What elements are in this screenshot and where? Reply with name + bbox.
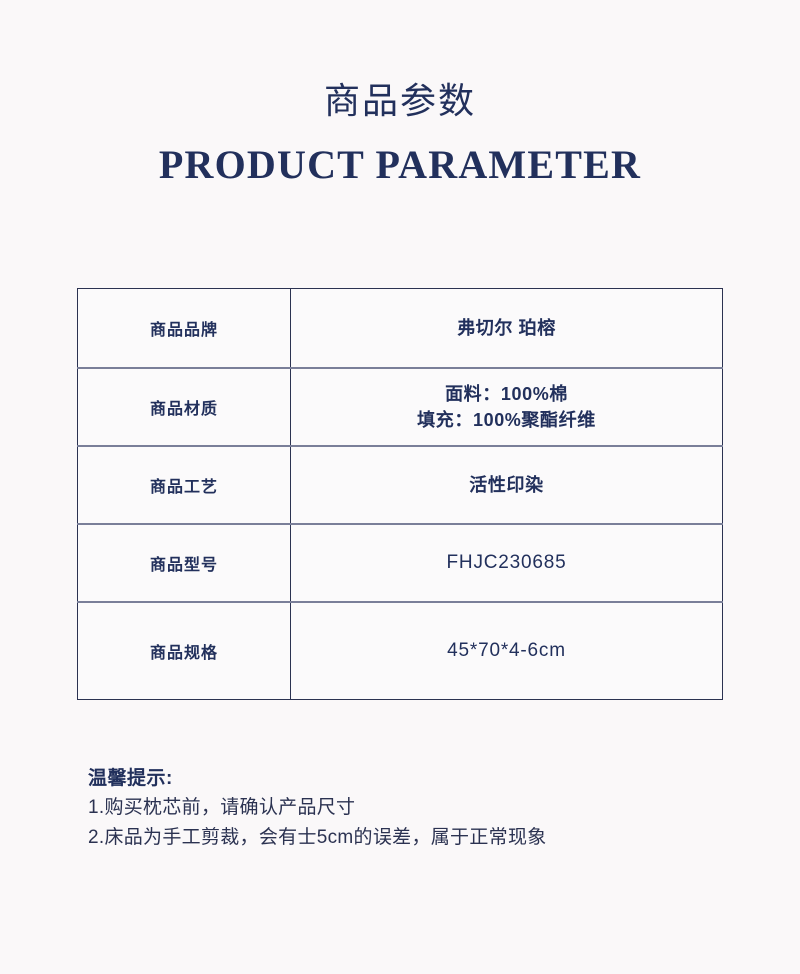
page-title-en: PRODUCT PARAMETER [0,141,800,189]
row-value: 活性印染 [291,446,723,524]
row-value-line: FHJC230685 [295,550,718,576]
page-title-cn: 商品参数 [0,78,800,124]
table-row: 商品品牌 弗切尔 珀榕 [78,289,723,368]
row-value-line: 弗切尔 珀榕 [295,315,718,341]
row-label: 商品型号 [78,524,291,602]
tips-section: 温馨提示: 1.购买枕芯前，请确认产品尺寸 2.床品为手工剪裁，会有士5cm的误… [88,765,738,853]
table-row: 商品工艺 活性印染 [78,446,723,524]
tips-line-1: 1.购买枕芯前，请确认产品尺寸 [88,793,738,823]
product-parameter-page: 商品参数 PRODUCT PARAMETER 商品品牌 弗切尔 珀榕 商品材质 … [0,0,800,974]
row-label: 商品材质 [78,368,291,446]
tips-title: 温馨提示: [88,765,738,793]
table-row: 商品规格 45*70*4-6cm [78,602,723,700]
table-row: 商品型号 FHJC230685 [78,524,723,602]
tips-line-2: 2.床品为手工剪裁，会有士5cm的误差，属于正常现象 [88,823,738,853]
row-value-line: 45*70*4-6cm [295,638,718,664]
row-value-line: 面料：100%棉 [295,381,718,407]
row-value: 弗切尔 珀榕 [291,289,723,368]
row-value-line: 填充：100%聚酯纤维 [295,407,718,433]
row-label: 商品工艺 [78,446,291,524]
row-value: FHJC230685 [291,524,723,602]
table-row: 商品材质 面料：100%棉 填充：100%聚酯纤维 [78,368,723,446]
parameter-table: 商品品牌 弗切尔 珀榕 商品材质 面料：100%棉 填充：100%聚酯纤维 商品… [77,288,723,700]
row-label: 商品规格 [78,602,291,700]
row-label: 商品品牌 [78,289,291,368]
row-value: 45*70*4-6cm [291,602,723,700]
row-value-line: 活性印染 [295,472,718,498]
page-heading: 商品参数 PRODUCT PARAMETER [0,78,800,189]
row-value: 面料：100%棉 填充：100%聚酯纤维 [291,368,723,446]
